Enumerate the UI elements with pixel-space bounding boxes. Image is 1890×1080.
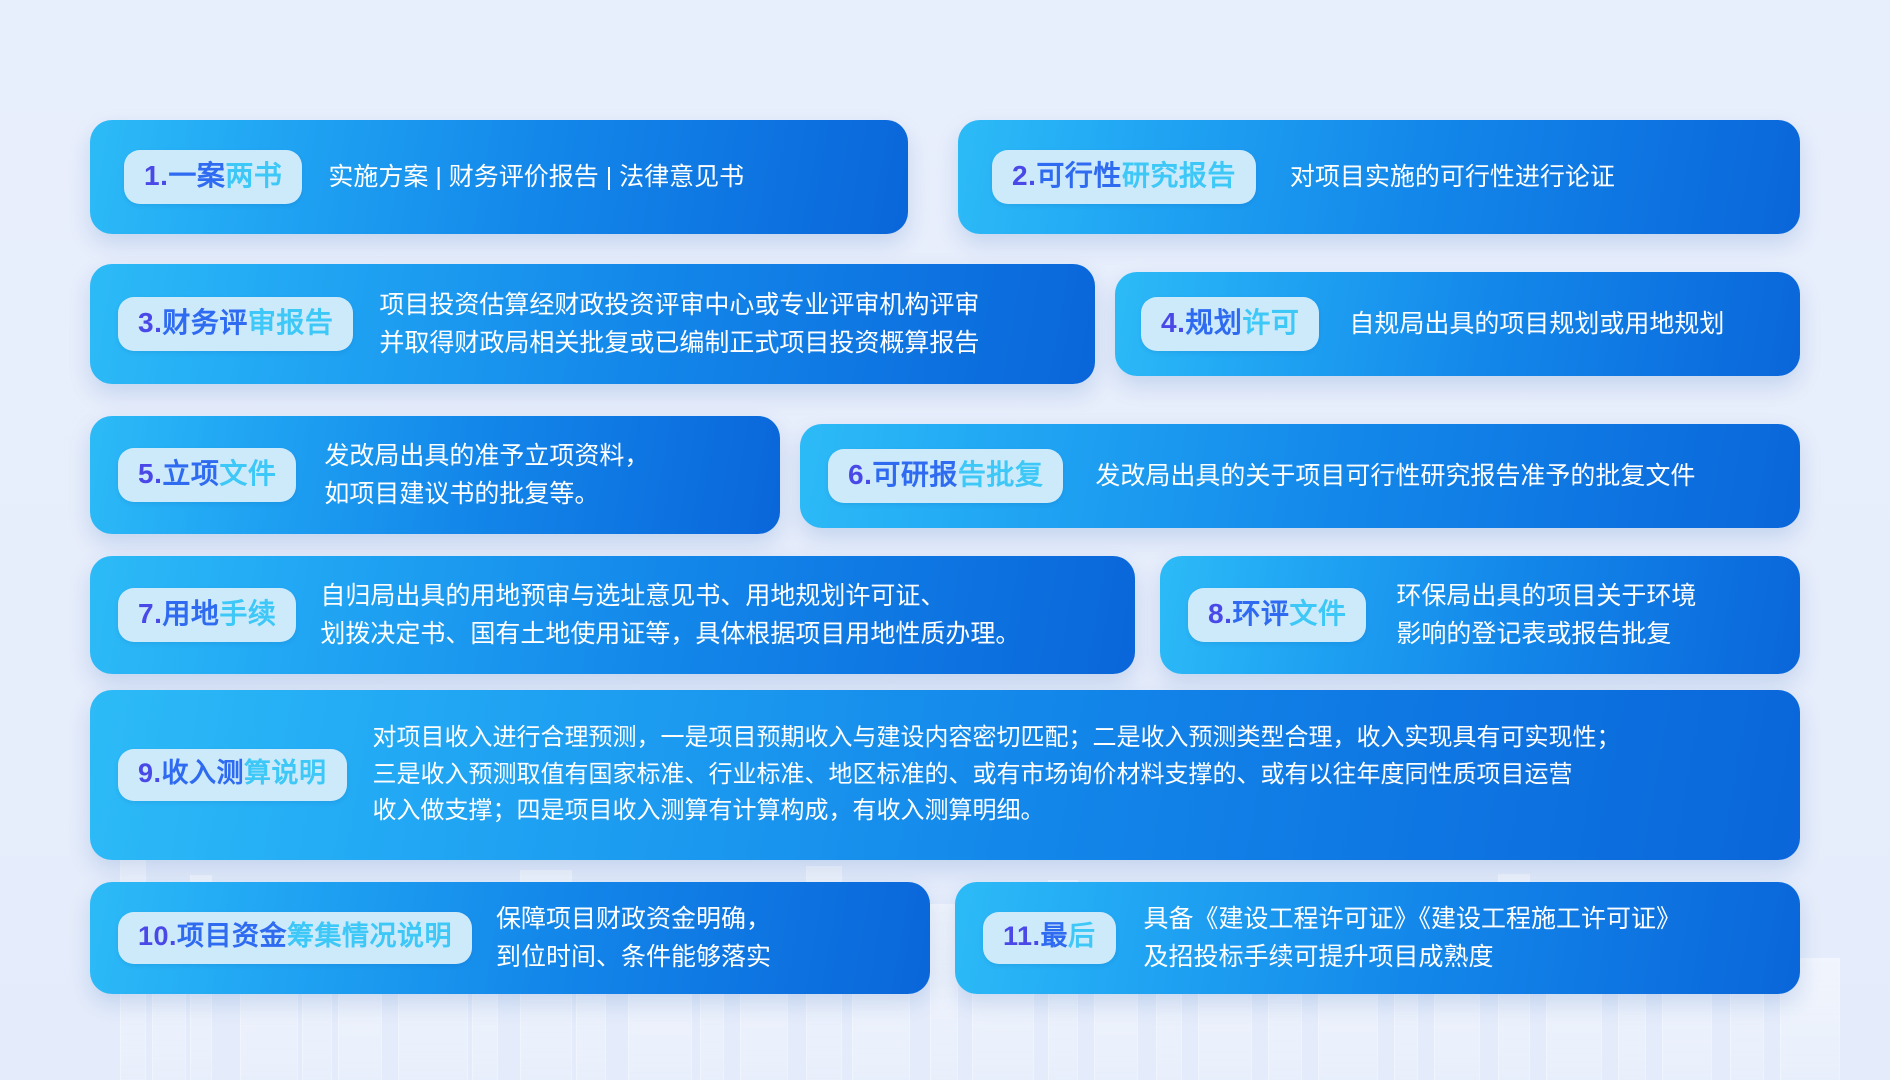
list-item: 2.可行性研究报告 对项目实施的可行性进行论证 bbox=[958, 120, 1800, 234]
requirement-description: 实施方案 | 财务评价报告 | 法律意见书 bbox=[328, 158, 744, 196]
requirement-card-11[interactable]: 11.最后 具备《建设工程许可证》《建设工程施工许可证》 及招投标手续可提升项目… bbox=[955, 882, 1800, 994]
chip-label-primary: 立项 bbox=[162, 458, 219, 489]
requirement-description: 自归局出具的用地预审与选址意见书、用地规划许可证、 划拨决定书、国有土地使用证等… bbox=[320, 577, 1020, 653]
chip-label-primary: 规划 bbox=[1185, 307, 1242, 338]
chip-label-accent: 审报告 bbox=[248, 307, 334, 338]
requirement-card-10[interactable]: 10.项目资金筹集情况说明 保障项目财政资金明确， 到位时间、条件能够落实 bbox=[90, 882, 930, 994]
chip-label-accent: 两书 bbox=[225, 160, 282, 191]
requirement-chip-11: 11.最后 bbox=[983, 912, 1116, 964]
requirement-card-6[interactable]: 6.可研报告批复 发改局出具的关于项目可行性研究报告准予的批复文件 bbox=[800, 424, 1800, 528]
chip-label-accent: 后 bbox=[1068, 921, 1096, 951]
requirement-card-2[interactable]: 2.可行性研究报告 对项目实施的可行性进行论证 bbox=[958, 120, 1800, 234]
chip-number: 9. bbox=[138, 758, 162, 788]
chip-number: 10. bbox=[138, 921, 177, 951]
requirement-card-8[interactable]: 8.环评文件 环保局出具的项目关于环境 影响的登记表或报告批复 bbox=[1160, 556, 1800, 674]
requirement-chip-7: 7.用地手续 bbox=[118, 588, 296, 641]
list-item: 7.用地手续 自归局出具的用地预审与选址意见书、用地规划许可证、 划拨决定书、国… bbox=[90, 556, 1135, 674]
chip-label-primary: 用地 bbox=[162, 598, 219, 629]
chip-label-accent: 文件 bbox=[1289, 598, 1346, 629]
requirement-description: 对项目实施的可行性进行论证 bbox=[1290, 158, 1615, 196]
chip-number: 6. bbox=[848, 459, 872, 490]
requirement-chip-1: 1.一案两书 bbox=[124, 150, 302, 203]
chip-number: 5. bbox=[138, 458, 162, 489]
requirement-card-5[interactable]: 5.立项文件 发改局出具的准予立项资料， 如项目建议书的批复等。 bbox=[90, 416, 780, 534]
chip-label-primary: 最 bbox=[1041, 921, 1069, 951]
chip-label-accent: 研究报告 bbox=[1122, 160, 1236, 191]
chip-label-accent: 算说明 bbox=[244, 758, 327, 788]
chip-label-primary: 财务评 bbox=[162, 307, 248, 338]
requirement-description: 保障项目财政资金明确， 到位时间、条件能够落实 bbox=[496, 900, 771, 976]
requirement-chip-10: 10.项目资金筹集情况说明 bbox=[118, 912, 472, 964]
requirement-card-9[interactable]: 9.收入测算说明 对项目收入进行合理预测，一是项目预期收入与建设内容密切匹配；二… bbox=[90, 690, 1800, 860]
chip-number: 8. bbox=[1208, 598, 1232, 629]
list-item: 9.收入测算说明 对项目收入进行合理预测，一是项目预期收入与建设内容密切匹配；二… bbox=[90, 690, 1800, 860]
chip-number: 1. bbox=[144, 160, 168, 191]
requirement-chip-8: 8.环评文件 bbox=[1188, 588, 1366, 641]
list-item: 3.财务评审报告 项目投资估算经财政投资评审中心或专业评审机构评审 并取得财政局… bbox=[90, 264, 1095, 384]
infographic-canvas: 1.一案两书 实施方案 | 财务评价报告 | 法律意见书 2.可行性研究报告 对… bbox=[0, 0, 1890, 1080]
requirement-description: 发改局出具的关于项目可行性研究报告准予的批复文件 bbox=[1095, 457, 1695, 495]
chip-label-accent: 许可 bbox=[1242, 307, 1299, 338]
requirement-card-3[interactable]: 3.财务评审报告 项目投资估算经财政投资评审中心或专业评审机构评审 并取得财政局… bbox=[90, 264, 1095, 384]
requirement-card-4[interactable]: 4.规划许可 自规局出具的项目规划或用地规划 bbox=[1115, 272, 1800, 376]
chip-label-accent: 文件 bbox=[219, 458, 276, 489]
list-item: 8.环评文件 环保局出具的项目关于环境 影响的登记表或报告批复 bbox=[1160, 556, 1800, 674]
list-item: 11.最后 具备《建设工程许可证》《建设工程施工许可证》 及招投标手续可提升项目… bbox=[955, 882, 1800, 994]
requirement-description: 自规局出具的项目规划或用地规划 bbox=[1349, 305, 1724, 343]
requirement-chip-9: 9.收入测算说明 bbox=[118, 749, 347, 801]
chip-label-primary: 一案 bbox=[168, 160, 225, 191]
requirement-description: 对项目收入进行合理预测，一是项目预期收入与建设内容密切匹配；二是收入预测类型合理… bbox=[373, 720, 1621, 829]
requirement-card-1[interactable]: 1.一案两书 实施方案 | 财务评价报告 | 法律意见书 bbox=[90, 120, 908, 234]
requirement-chip-4: 4.规划许可 bbox=[1141, 297, 1319, 350]
chip-label-primary: 可研报 bbox=[872, 459, 958, 490]
chip-label-accent: 手续 bbox=[219, 598, 276, 629]
requirement-description: 环保局出具的项目关于环境 影响的登记表或报告批复 bbox=[1396, 577, 1696, 653]
chip-number: 3. bbox=[138, 307, 162, 338]
chip-number: 2. bbox=[1012, 160, 1036, 191]
requirement-chip-5: 5.立项文件 bbox=[118, 448, 296, 501]
chip-label-primary: 环评 bbox=[1232, 598, 1289, 629]
chip-label-accent: 筹集情况说明 bbox=[287, 921, 452, 951]
requirement-chip-6: 6.可研报告批复 bbox=[828, 449, 1063, 502]
list-item: 1.一案两书 实施方案 | 财务评价报告 | 法律意见书 bbox=[90, 120, 908, 234]
chip-label-primary: 项目资金 bbox=[177, 921, 287, 951]
list-item: 4.规划许可 自规局出具的项目规划或用地规划 bbox=[1115, 272, 1800, 376]
requirement-chip-2: 2.可行性研究报告 bbox=[992, 150, 1256, 203]
requirement-description: 具备《建设工程许可证》《建设工程施工许可证》 及招投标手续可提升项目成熟度 bbox=[1144, 900, 1682, 976]
chip-label-accent: 告批复 bbox=[958, 459, 1044, 490]
requirement-card-7[interactable]: 7.用地手续 自归局出具的用地预审与选址意见书、用地规划许可证、 划拨决定书、国… bbox=[90, 556, 1135, 674]
list-item: 6.可研报告批复 发改局出具的关于项目可行性研究报告准予的批复文件 bbox=[800, 424, 1800, 528]
chip-label-primary: 可行性 bbox=[1036, 160, 1122, 191]
list-item: 10.项目资金筹集情况说明 保障项目财政资金明确， 到位时间、条件能够落实 bbox=[90, 882, 930, 994]
list-item: 5.立项文件 发改局出具的准予立项资料， 如项目建议书的批复等。 bbox=[90, 416, 780, 534]
chip-number: 11. bbox=[1003, 921, 1041, 951]
chip-number: 7. bbox=[138, 598, 162, 629]
chip-number: 4. bbox=[1161, 307, 1185, 338]
requirement-chip-3: 3.财务评审报告 bbox=[118, 297, 353, 350]
chip-label-primary: 收入测 bbox=[162, 758, 245, 788]
requirement-list: 1.一案两书 实施方案 | 财务评价报告 | 法律意见书 2.可行性研究报告 对… bbox=[0, 0, 1890, 1080]
requirement-description: 发改局出具的准予立项资料， 如项目建议书的批复等。 bbox=[324, 437, 649, 513]
requirement-description: 项目投资估算经财政投资评审中心或专业评审机构评审 并取得财政局相关批复或已编制正… bbox=[379, 286, 979, 362]
